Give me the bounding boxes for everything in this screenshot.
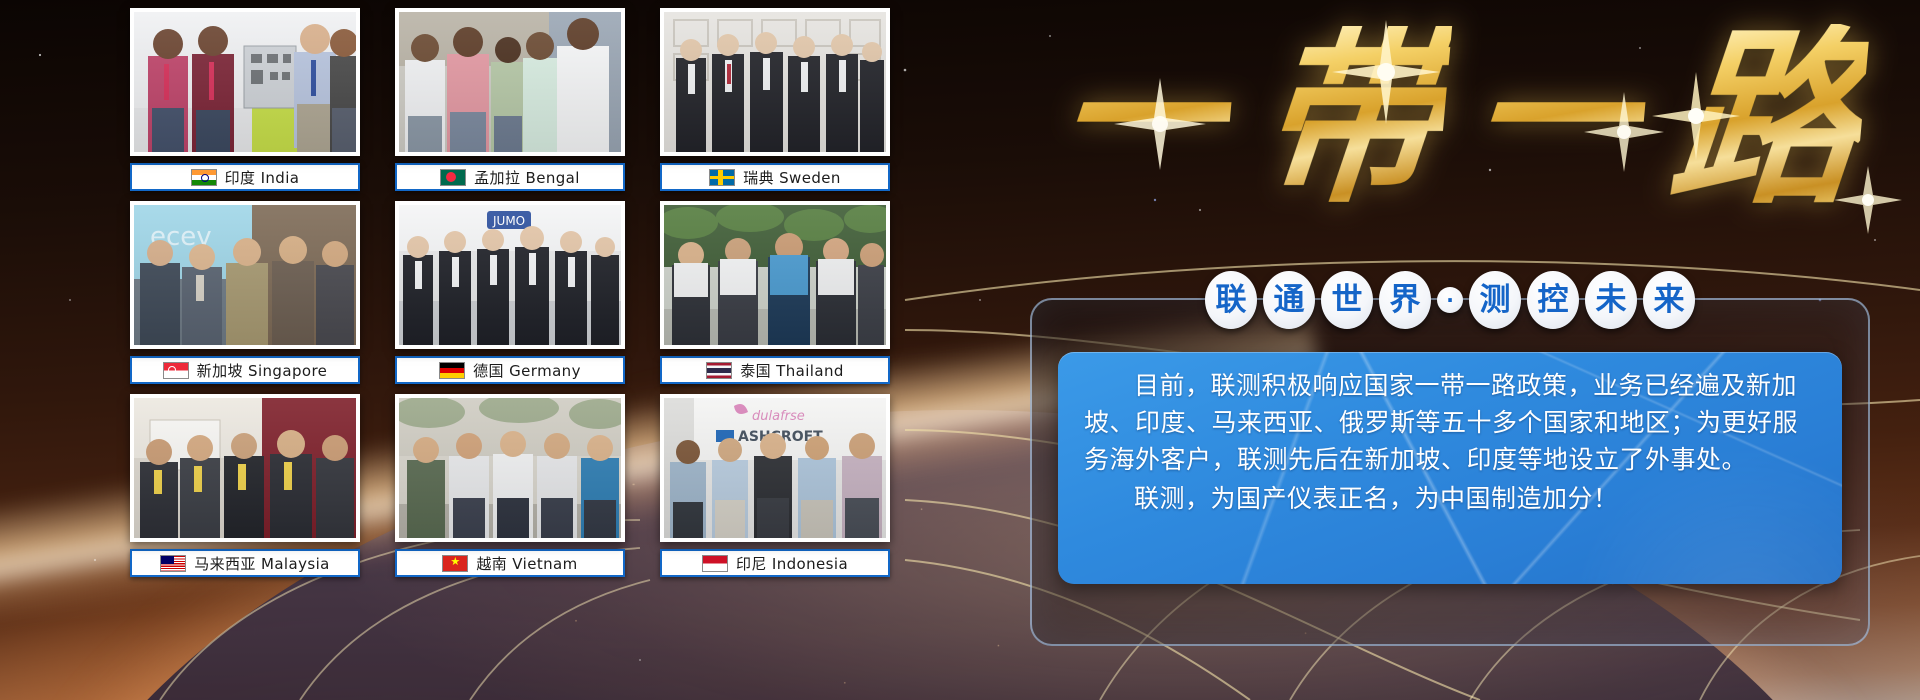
photo-image-thailand [664, 205, 886, 345]
caption-singapore: 新加坡 Singapore [130, 356, 360, 384]
slogan-badge-5: 测 [1469, 271, 1521, 329]
caption-label: 新加坡 Singapore [197, 360, 328, 381]
caption-label: 德国 Germany [473, 360, 581, 381]
slogan-badge-3: 世 [1321, 271, 1373, 329]
flag-indonesia [702, 555, 728, 572]
caption-vietnam: 越南 Vietnam [395, 549, 625, 577]
description-box: 目前，联测积极响应国家一带一路政策，业务已经遍及新加坡、印度、马来西亚、俄罗斯等… [1058, 352, 1842, 584]
headline-char-2: 带 [1250, 26, 1452, 212]
photo-frame [395, 8, 625, 156]
caption-label: 孟加拉 Bengal [474, 167, 580, 188]
slogan-badges: 联 通 世 界 · 测 控 未 来 [1032, 260, 1868, 340]
caption-thailand: 泰国 Thailand [660, 356, 890, 384]
flag-singapore [163, 362, 189, 379]
belt-and-road-banner: 印度 India [0, 0, 1920, 700]
photo-image-indonesia: dulafrse ASHCROFT [664, 398, 886, 538]
caption-label: 越南 Vietnam [476, 553, 577, 574]
photo-image-germany: JUMO [399, 205, 621, 345]
description-paragraph-2: 联测，为国产仪表正名，为中国制造加分！ [1084, 480, 1816, 517]
photo-card-thailand[interactable]: 泰国 Thailand [660, 201, 890, 386]
headline-belt-and-road: 一 带 一 路 [1010, 4, 1910, 234]
photo-card-sweden[interactable]: 瑞典 Sweden [660, 8, 890, 193]
photo-frame [660, 8, 890, 156]
caption-germany: 德国 Germany [395, 356, 625, 384]
slogan-badge-1: 联 [1205, 271, 1257, 329]
photo-image-india [134, 12, 356, 152]
svg-text:JUMO: JUMO [492, 214, 525, 228]
flag-malaysia [160, 555, 186, 572]
flag-thailand [706, 362, 732, 379]
caption-label: 马来西亚 Malaysia [194, 553, 330, 574]
photo-image-vietnam [399, 398, 621, 538]
photo-frame [130, 394, 360, 542]
country-photo-grid: 印度 India [130, 8, 930, 586]
headline-char-4: 路 [1664, 24, 1871, 214]
photo-frame: JUMO [395, 201, 625, 349]
photo-card-singapore[interactable]: ecev 新加坡 Singapore [130, 201, 360, 386]
photo-frame [660, 201, 890, 349]
slogan-badge-2: 通 [1263, 271, 1315, 329]
svg-text:dulafrse: dulafrse [752, 409, 805, 424]
info-panel: 联 通 世 界 · 测 控 未 来 目前，联测积极响应国家一带一路政策，业务已经… [1030, 298, 1870, 646]
caption-label: 印尼 Indonesia [736, 553, 848, 574]
caption-malaysia: 马来西亚 Malaysia [130, 549, 360, 577]
photo-image-bangladesh [399, 12, 621, 152]
photo-card-malaysia[interactable]: 马来西亚 Malaysia [130, 394, 360, 579]
photo-card-bangladesh[interactable]: 孟加拉 Bengal [395, 8, 625, 193]
photo-card-india[interactable]: 印度 India [130, 8, 360, 193]
caption-label: 印度 India [225, 167, 300, 188]
caption-label: 瑞典 Sweden [743, 167, 841, 188]
slogan-badge-6: 控 [1527, 271, 1579, 329]
photo-image-singapore: ecev [134, 205, 356, 345]
photo-frame [395, 394, 625, 542]
flag-india [191, 169, 217, 186]
photo-image-malaysia [134, 398, 356, 538]
photo-frame: dulafrse ASHCROFT [660, 394, 890, 542]
description-paragraph-1: 目前，联测积极响应国家一带一路政策，业务已经遍及新加坡、印度、马来西亚、俄罗斯等… [1084, 367, 1816, 478]
flag-vietnam [442, 555, 468, 572]
svg-text:ecev: ecev [150, 222, 212, 252]
svg-text:ASHCROFT: ASHCROFT [738, 429, 823, 445]
photo-card-germany[interactable]: JUMO [395, 201, 625, 386]
caption-indonesia: 印尼 Indonesia [660, 549, 890, 577]
headline-char-3: 一 [1464, 33, 1651, 205]
slogan-badge-7: 未 [1585, 271, 1637, 329]
caption-label: 泰国 Thailand [740, 360, 844, 381]
photo-card-indonesia[interactable]: dulafrse ASHCROFT 印尼 Indonesia [660, 394, 890, 579]
flag-germany [439, 362, 465, 379]
headline-char-1: 一 [1050, 33, 1237, 205]
slogan-badge-8: 来 [1643, 271, 1695, 329]
caption-india: 印度 India [130, 163, 360, 191]
photo-image-sweden [664, 12, 886, 152]
photo-frame: ecev [130, 201, 360, 349]
flag-sweden [709, 169, 735, 186]
caption-bangladesh: 孟加拉 Bengal [395, 163, 625, 191]
slogan-badge-4: 界 [1379, 271, 1431, 329]
caption-sweden: 瑞典 Sweden [660, 163, 890, 191]
photo-card-vietnam[interactable]: 越南 Vietnam [395, 394, 625, 579]
slogan-separator-dot: · [1437, 287, 1463, 313]
photo-frame [130, 8, 360, 156]
flag-bangladesh [440, 169, 466, 186]
